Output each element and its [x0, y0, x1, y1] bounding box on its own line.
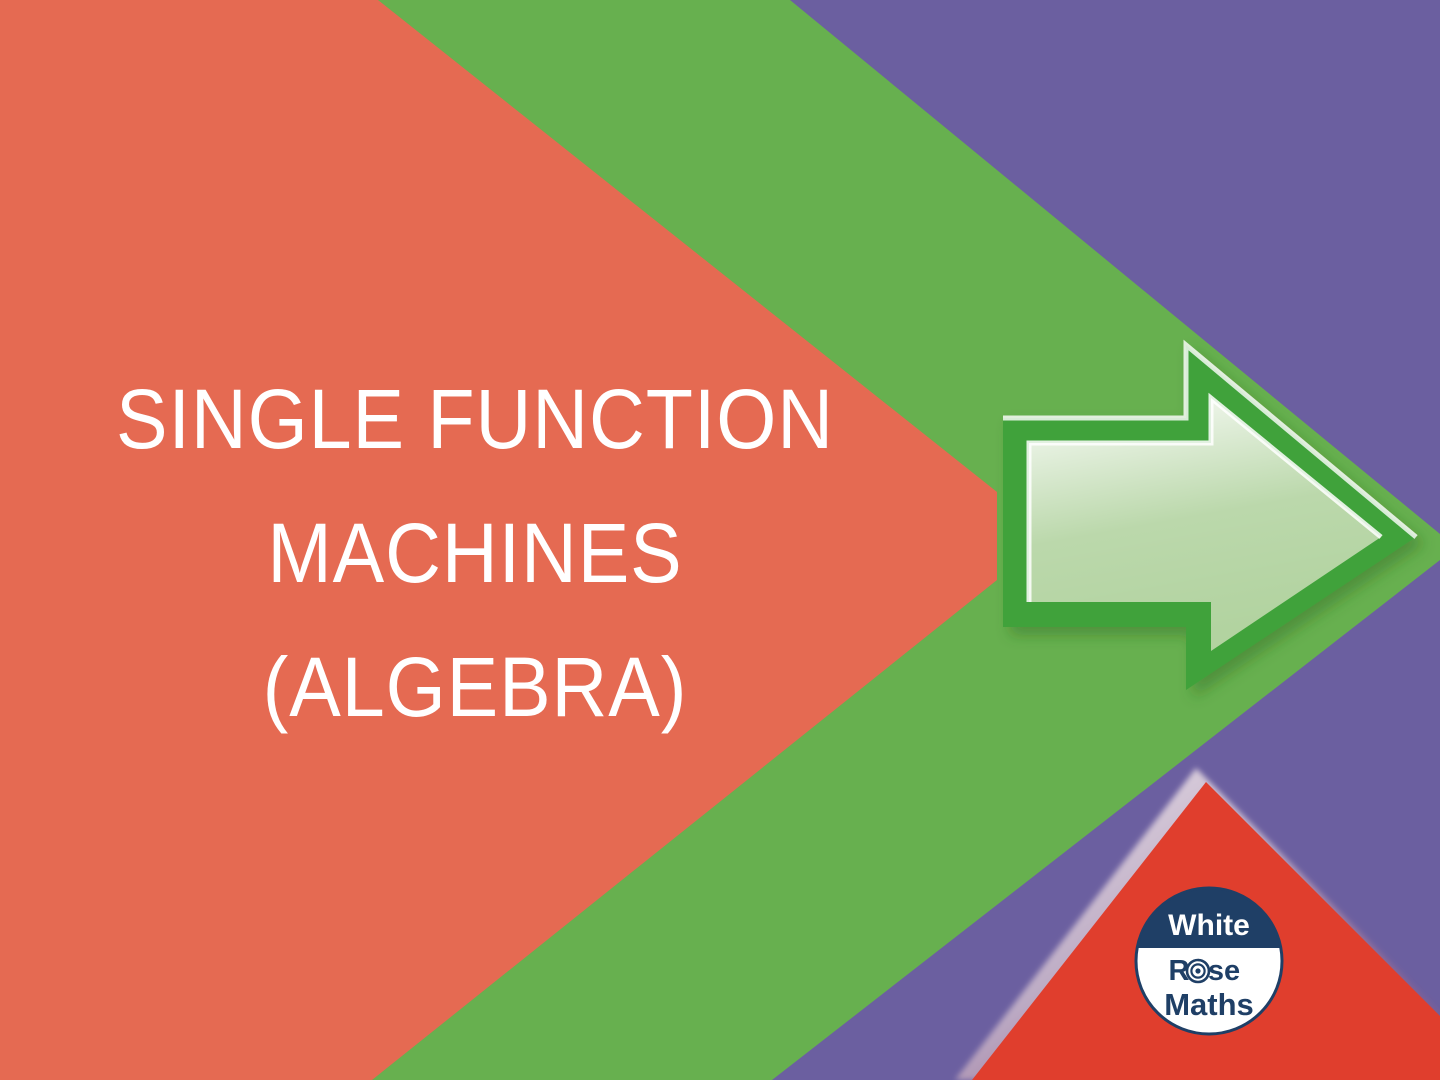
- white-rose-maths-logo: White R se Maths: [1134, 886, 1284, 1036]
- slide-canvas: SINGLE FUNCTION MACHINES (ALGEBRA) White…: [0, 0, 1440, 1080]
- logo-text-white: White: [1168, 909, 1250, 942]
- logo-text-rose-after: se: [1208, 955, 1240, 987]
- logo-text-maths: Maths: [1164, 987, 1254, 1022]
- right-arrow-icon: [1003, 345, 1416, 690]
